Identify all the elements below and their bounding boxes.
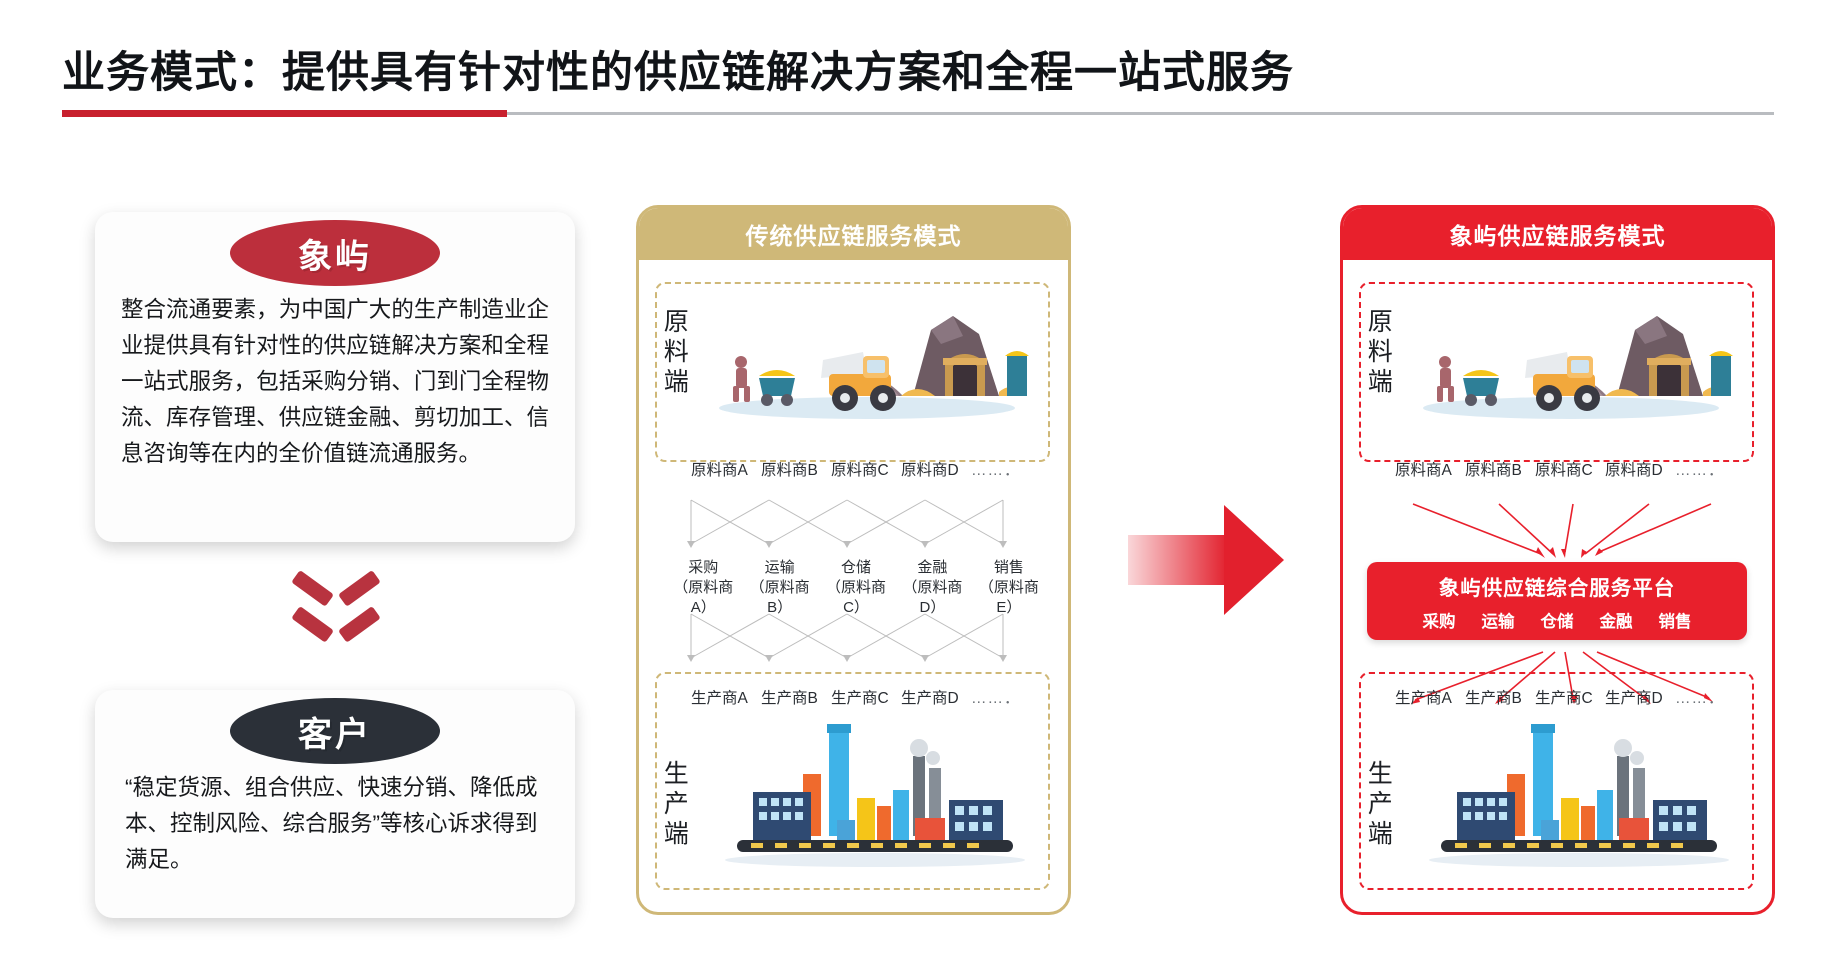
service-node-name: 金融 [894,558,970,578]
service-node: 采购（原料商A） [665,558,741,618]
down-chevrons-icon [300,570,380,660]
producer-label: 生产商C [1535,686,1605,708]
platform-service-item[interactable]: 金融 [1600,608,1633,632]
supplier-label: 原料商D [901,458,971,480]
platform-service-item[interactable]: 运输 [1482,608,1515,632]
producer-label: 生产商C [831,686,901,708]
supplier-label: 原料商C [831,458,901,480]
service-node-name: 仓储 [818,558,894,578]
supplier-label: 原料商A [1395,458,1465,480]
traditional-panel-header: 传统供应链服务模式 [639,208,1068,260]
transition-arrow-icon [1128,505,1284,615]
producer-label: 生产商D [901,686,971,708]
producer-label: ……． [1675,686,1745,708]
xiangyu-platform-card[interactable]: 象屿供应链综合服务平台 采购运输仓储金融销售 [1367,562,1747,640]
traditional-mesh-bottom [679,612,1039,664]
xiangyu-panel-header: 象屿供应链服务模式 [1343,208,1772,260]
slide-root: 业务模式：提供具有针对性的供应链解决方案和全程一站式服务 象屿 整合流通要素，为… [0,0,1835,959]
xiangyu-producer-row: 生产商A生产商B生产商C生产商D……． [1395,686,1745,708]
platform-title: 象屿供应链综合服务平台 [1439,571,1676,601]
service-node-name: 运输 [741,558,817,578]
mining-illustration [717,300,1033,420]
factory-illustration-right [1421,712,1737,882]
divider-red-accent [62,110,507,117]
service-node-name: 销售 [971,558,1047,578]
supplier-label: 原料商B [1465,458,1535,480]
platform-service-item[interactable]: 仓储 [1541,608,1574,632]
traditional-downstream-label: 生产端 [661,760,687,850]
traditional-mesh-top [679,498,1039,550]
supplier-label: 原料商C [1535,458,1605,480]
platform-service-item[interactable]: 采购 [1423,608,1456,632]
supplier-label: 原料商D [1605,458,1675,480]
producer-label: 生产商B [1465,686,1535,708]
producer-label: 生产商A [1395,686,1465,708]
producer-label: 生产商D [1605,686,1675,708]
xiangyu-badge: 象屿 [230,220,440,286]
xiangyu-card-body: 整合流通要素，为中国广大的生产制造业企业提供具有针对性的供应链解决方案和全程一站… [95,292,575,472]
customer-description-card: 客户 “稳定货源、组合供应、快速分销、降低成本、控制风险、综合服务”等核心诉求得… [95,690,575,918]
xiangyu-description-card: 象屿 整合流通要素，为中国广大的生产制造业企业提供具有针对性的供应链解决方案和全… [95,212,575,542]
mining-illustration-right [1421,300,1737,420]
service-node: 金融（原料商D） [894,558,970,618]
title-divider [62,110,1774,117]
customer-badge: 客户 [230,698,440,764]
xiangyu-upstream-label: 原料端 [1365,308,1391,398]
supplier-label: ……． [971,458,1041,480]
service-node: 运输（原料商B） [741,558,817,618]
xiangyu-model-panel: 象屿供应链服务模式 原料端 [1340,205,1775,915]
supplier-label: 原料商A [691,458,761,480]
platform-service-item[interactable]: 销售 [1659,608,1692,632]
service-node: 仓储（原料商C） [818,558,894,618]
supplier-label: ……． [1675,458,1745,480]
traditional-upstream-label: 原料端 [661,308,687,398]
page-title: 业务模式：提供具有针对性的供应链解决方案和全程一站式服务 [62,38,1294,100]
factory-illustration [717,712,1033,882]
supplier-label: 原料商B [761,458,831,480]
traditional-supplier-row: 原料商A原料商B原料商C原料商D……． [691,458,1041,480]
producer-label: 生产商A [691,686,761,708]
xiangyu-downstream-label: 生产端 [1365,760,1391,850]
xiangyu-supplier-row: 原料商A原料商B原料商C原料商D……． [1395,458,1745,480]
traditional-service-row: 采购（原料商A）运输（原料商B）仓储（原料商C）金融（原料商D）销售（原料商E） [665,558,1047,618]
service-node: 销售（原料商E） [971,558,1047,618]
service-node-name: 采购 [665,558,741,578]
producer-label: 生产商B [761,686,831,708]
traditional-producer-row: 生产商A生产商B生产商C生产商D……． [691,686,1041,708]
producer-label: ……． [971,686,1041,708]
traditional-model-panel: 传统供应链服务模式 原料端 [636,205,1071,915]
platform-service-list: 采购运输仓储金融销售 [1423,608,1692,632]
xiangyu-converge-arrows [1403,500,1723,566]
customer-card-body: “稳定货源、组合供应、快速分销、降低成本、控制风险、综合服务”等核心诉求得到满足… [95,770,575,878]
